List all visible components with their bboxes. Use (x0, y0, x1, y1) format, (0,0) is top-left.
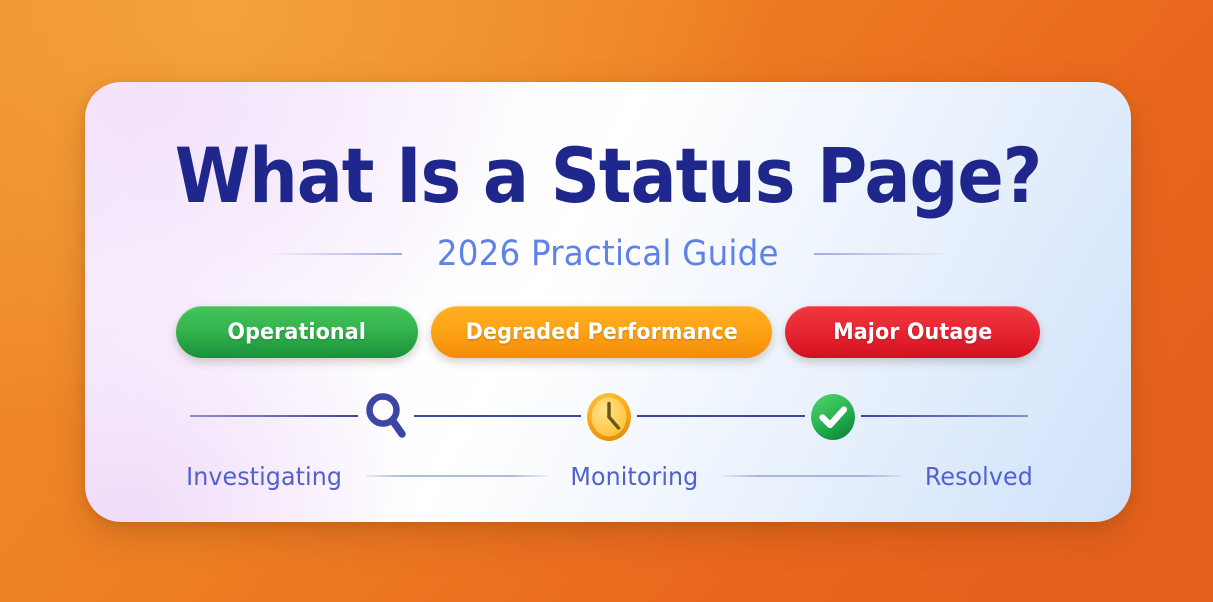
status-pill-operational[interactable]: Operational (176, 306, 418, 358)
status-pill-group: Operational Degraded Performance Major O… (85, 306, 1131, 358)
timeline-label-resolved: Resolved (925, 462, 1033, 491)
magnifying-glass-icon (362, 390, 410, 444)
check-circle-icon (809, 392, 857, 442)
timeline-label-investigating: Investigating (186, 462, 342, 491)
timeline-label-monitoring: Monitoring (570, 462, 698, 491)
subtitle-row: 2026 Practical Guide (85, 232, 1131, 276)
status-pill-degraded[interactable]: Degraded Performance (431, 306, 773, 358)
incident-timeline: Investigating Monitoring Resolved (190, 382, 1028, 492)
page-title: What Is a Status Page? (137, 138, 1078, 214)
clock-icon (584, 390, 634, 444)
timeline-label-rule-1 (366, 475, 547, 477)
timeline-label-rule-2 (722, 475, 903, 477)
status-page-hero-card: What Is a Status Page? 2026 Practical Gu… (85, 82, 1131, 522)
timeline-node-monitoring[interactable] (581, 388, 637, 446)
timeline-labels: Investigating Monitoring Resolved (182, 460, 1036, 492)
page-subtitle: 2026 Practical Guide (437, 234, 779, 274)
timeline-node-resolved[interactable] (805, 388, 861, 446)
subtitle-rule-left (266, 253, 402, 255)
subtitle-rule-right (814, 253, 950, 255)
status-pill-degraded-label: Degraded Performance (465, 320, 737, 345)
timeline-node-investigating[interactable] (358, 388, 414, 446)
timeline-nodes (190, 382, 1028, 452)
status-pill-outage[interactable]: Major Outage (785, 306, 1040, 358)
status-pill-operational-label: Operational (227, 320, 366, 345)
status-pill-outage-label: Major Outage (833, 320, 992, 345)
